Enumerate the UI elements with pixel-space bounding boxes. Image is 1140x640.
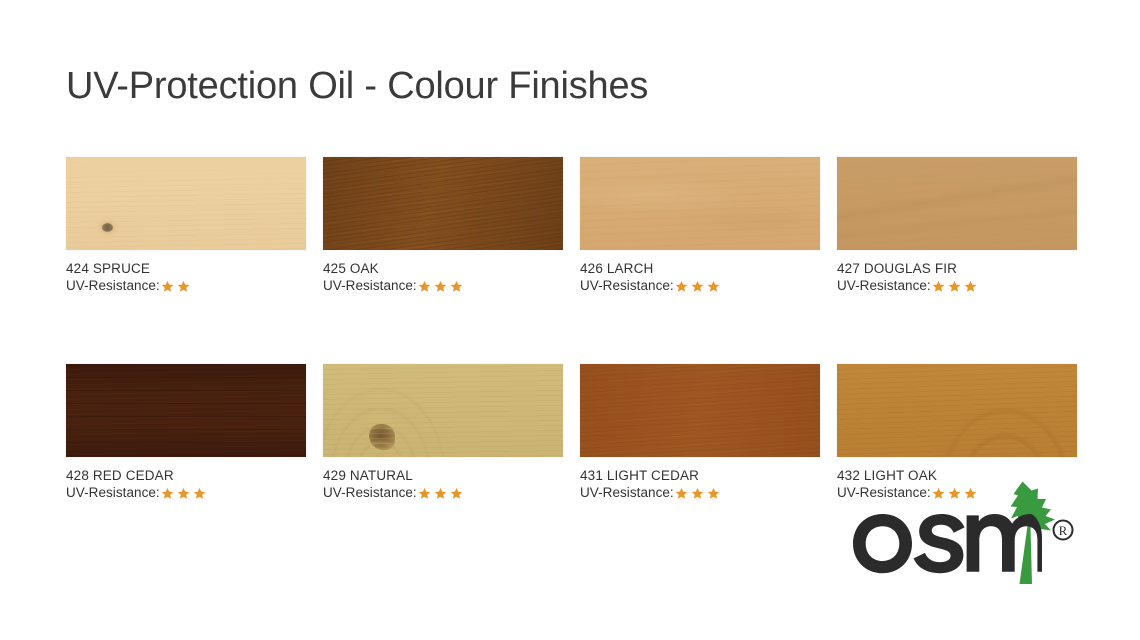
swatch-card[interactable]: 424 SPRUCEUV-Resistance: <box>66 157 306 295</box>
swatch-meta: 431 LIGHT CEDARUV-Resistance: <box>580 467 820 502</box>
uv-resistance-label: UV-Resistance: <box>323 484 417 502</box>
wood-grain-texture <box>580 157 820 250</box>
osmo-logo-svg: R <box>852 478 1084 586</box>
swatch-name: 426 LARCH <box>580 260 820 277</box>
uv-resistance-row: UV-Resistance: <box>323 277 563 295</box>
uv-resistance-rating <box>418 280 466 293</box>
swatch-meta: 424 SPRUCEUV-Resistance: <box>66 260 306 295</box>
swatch-colour-chip[interactable] <box>837 157 1077 250</box>
swatch-colour-chip[interactable] <box>580 364 820 457</box>
wood-shading-overlay <box>323 157 563 250</box>
swatch-meta: 425 OAKUV-Resistance: <box>323 260 563 295</box>
uv-resistance-row: UV-Resistance: <box>323 484 563 502</box>
wood-knot <box>102 223 113 232</box>
star-icon <box>691 280 704 293</box>
swatch-card[interactable]: 427 DOUGLAS FIRUV-Resistance: <box>837 157 1077 295</box>
swatch-colour-chip[interactable] <box>66 157 306 250</box>
swatch-colour-chip[interactable] <box>323 157 563 250</box>
wood-knot <box>369 424 395 450</box>
swatch-card[interactable]: 428 RED CEDARUV-Resistance: <box>66 364 306 502</box>
star-icon <box>177 280 190 293</box>
wood-grain-texture-fine <box>580 157 820 250</box>
swatch-card[interactable]: 429 NATURALUV-Resistance: <box>323 364 563 502</box>
star-icon <box>707 280 720 293</box>
uv-resistance-rating <box>675 487 723 500</box>
uv-resistance-label: UV-Resistance: <box>66 484 160 502</box>
star-icon <box>434 280 447 293</box>
osmo-logo: R <box>852 478 1084 586</box>
page-title: UV-Protection Oil - Colour Finishes <box>66 62 648 110</box>
swatch-name: 427 DOUGLAS FIR <box>837 260 1077 277</box>
star-icon <box>675 487 688 500</box>
wood-grain-texture-fine <box>580 364 820 457</box>
swatch-name: 428 RED CEDAR <box>66 467 306 484</box>
uv-resistance-label: UV-Resistance: <box>580 484 674 502</box>
uv-resistance-row: UV-Resistance: <box>66 277 306 295</box>
star-icon <box>418 280 431 293</box>
swatch-card[interactable]: 426 LARCHUV-Resistance: <box>580 157 820 295</box>
star-icon <box>161 487 174 500</box>
wood-shading-overlay <box>837 364 1077 457</box>
wood-grain-texture <box>323 364 563 457</box>
swatch-card[interactable]: 425 OAKUV-Resistance: <box>323 157 563 295</box>
star-icon <box>161 280 174 293</box>
swatch-name: 425 OAK <box>323 260 563 277</box>
swatch-colour-chip[interactable] <box>323 364 563 457</box>
pine-tree-icon <box>1011 482 1056 585</box>
star-icon <box>418 487 431 500</box>
wood-grain-texture <box>323 157 563 250</box>
swatch-name: 424 SPRUCE <box>66 260 306 277</box>
swatch-card[interactable]: 431 LIGHT CEDARUV-Resistance: <box>580 364 820 502</box>
wood-grain-texture-fine <box>66 157 306 250</box>
uv-resistance-row: UV-Resistance: <box>66 484 306 502</box>
wood-shading-overlay <box>580 157 820 250</box>
wood-grain-texture <box>66 157 306 250</box>
colour-finish-grid: 424 SPRUCEUV-Resistance:425 OAKUV-Resist… <box>66 157 1076 502</box>
swatch-colour-chip[interactable] <box>580 157 820 250</box>
swatch-colour-chip[interactable] <box>837 364 1077 457</box>
swatch-meta: 428 RED CEDARUV-Resistance: <box>66 467 306 502</box>
swatch-name: 431 LIGHT CEDAR <box>580 467 820 484</box>
uv-resistance-label: UV-Resistance: <box>323 277 417 295</box>
star-icon <box>434 487 447 500</box>
uv-resistance-row: UV-Resistance: <box>580 484 820 502</box>
star-icon <box>675 280 688 293</box>
wood-grain-texture-fine <box>323 157 563 250</box>
wood-shading-overlay <box>837 157 1077 250</box>
star-icon <box>964 280 977 293</box>
star-icon <box>691 487 704 500</box>
wood-shading-overlay <box>66 157 306 250</box>
wood-grain-texture-fine <box>66 364 306 457</box>
registered-trademark-icon: R <box>1054 521 1073 540</box>
wood-grain-texture-fine <box>323 364 563 457</box>
wood-shading-overlay <box>66 364 306 457</box>
uv-resistance-rating <box>161 280 193 293</box>
swatch-meta: 427 DOUGLAS FIRUV-Resistance: <box>837 260 1077 295</box>
uv-resistance-label: UV-Resistance: <box>66 277 160 295</box>
uv-resistance-label: UV-Resistance: <box>580 277 674 295</box>
wood-shading-overlay <box>580 364 820 457</box>
star-icon <box>707 487 720 500</box>
uv-resistance-rating <box>418 487 466 500</box>
slide-canvas: UV-Protection Oil - Colour Finishes 424 … <box>0 0 1140 640</box>
wood-grain-texture <box>66 364 306 457</box>
star-icon <box>450 280 463 293</box>
uv-resistance-rating <box>675 280 723 293</box>
star-icon <box>450 487 463 500</box>
swatch-meta: 426 LARCHUV-Resistance: <box>580 260 820 295</box>
wood-grain-texture-fine <box>837 364 1077 457</box>
wood-grain-texture <box>837 364 1077 457</box>
uv-resistance-label: UV-Resistance: <box>837 277 931 295</box>
star-icon <box>177 487 190 500</box>
wood-grain-texture <box>837 157 1077 250</box>
uv-resistance-rating <box>161 487 209 500</box>
uv-resistance-rating <box>932 280 980 293</box>
uv-resistance-row: UV-Resistance: <box>837 277 1077 295</box>
swatch-name: 429 NATURAL <box>323 467 563 484</box>
wood-shading-overlay <box>323 364 563 457</box>
wood-grain-texture-fine <box>837 157 1077 250</box>
swatch-colour-chip[interactable] <box>66 364 306 457</box>
star-icon <box>193 487 206 500</box>
svg-text:R: R <box>1059 523 1068 538</box>
star-icon <box>932 280 945 293</box>
swatch-meta: 429 NATURALUV-Resistance: <box>323 467 563 502</box>
wood-grain-texture <box>580 364 820 457</box>
uv-resistance-row: UV-Resistance: <box>580 277 820 295</box>
star-icon <box>948 280 961 293</box>
